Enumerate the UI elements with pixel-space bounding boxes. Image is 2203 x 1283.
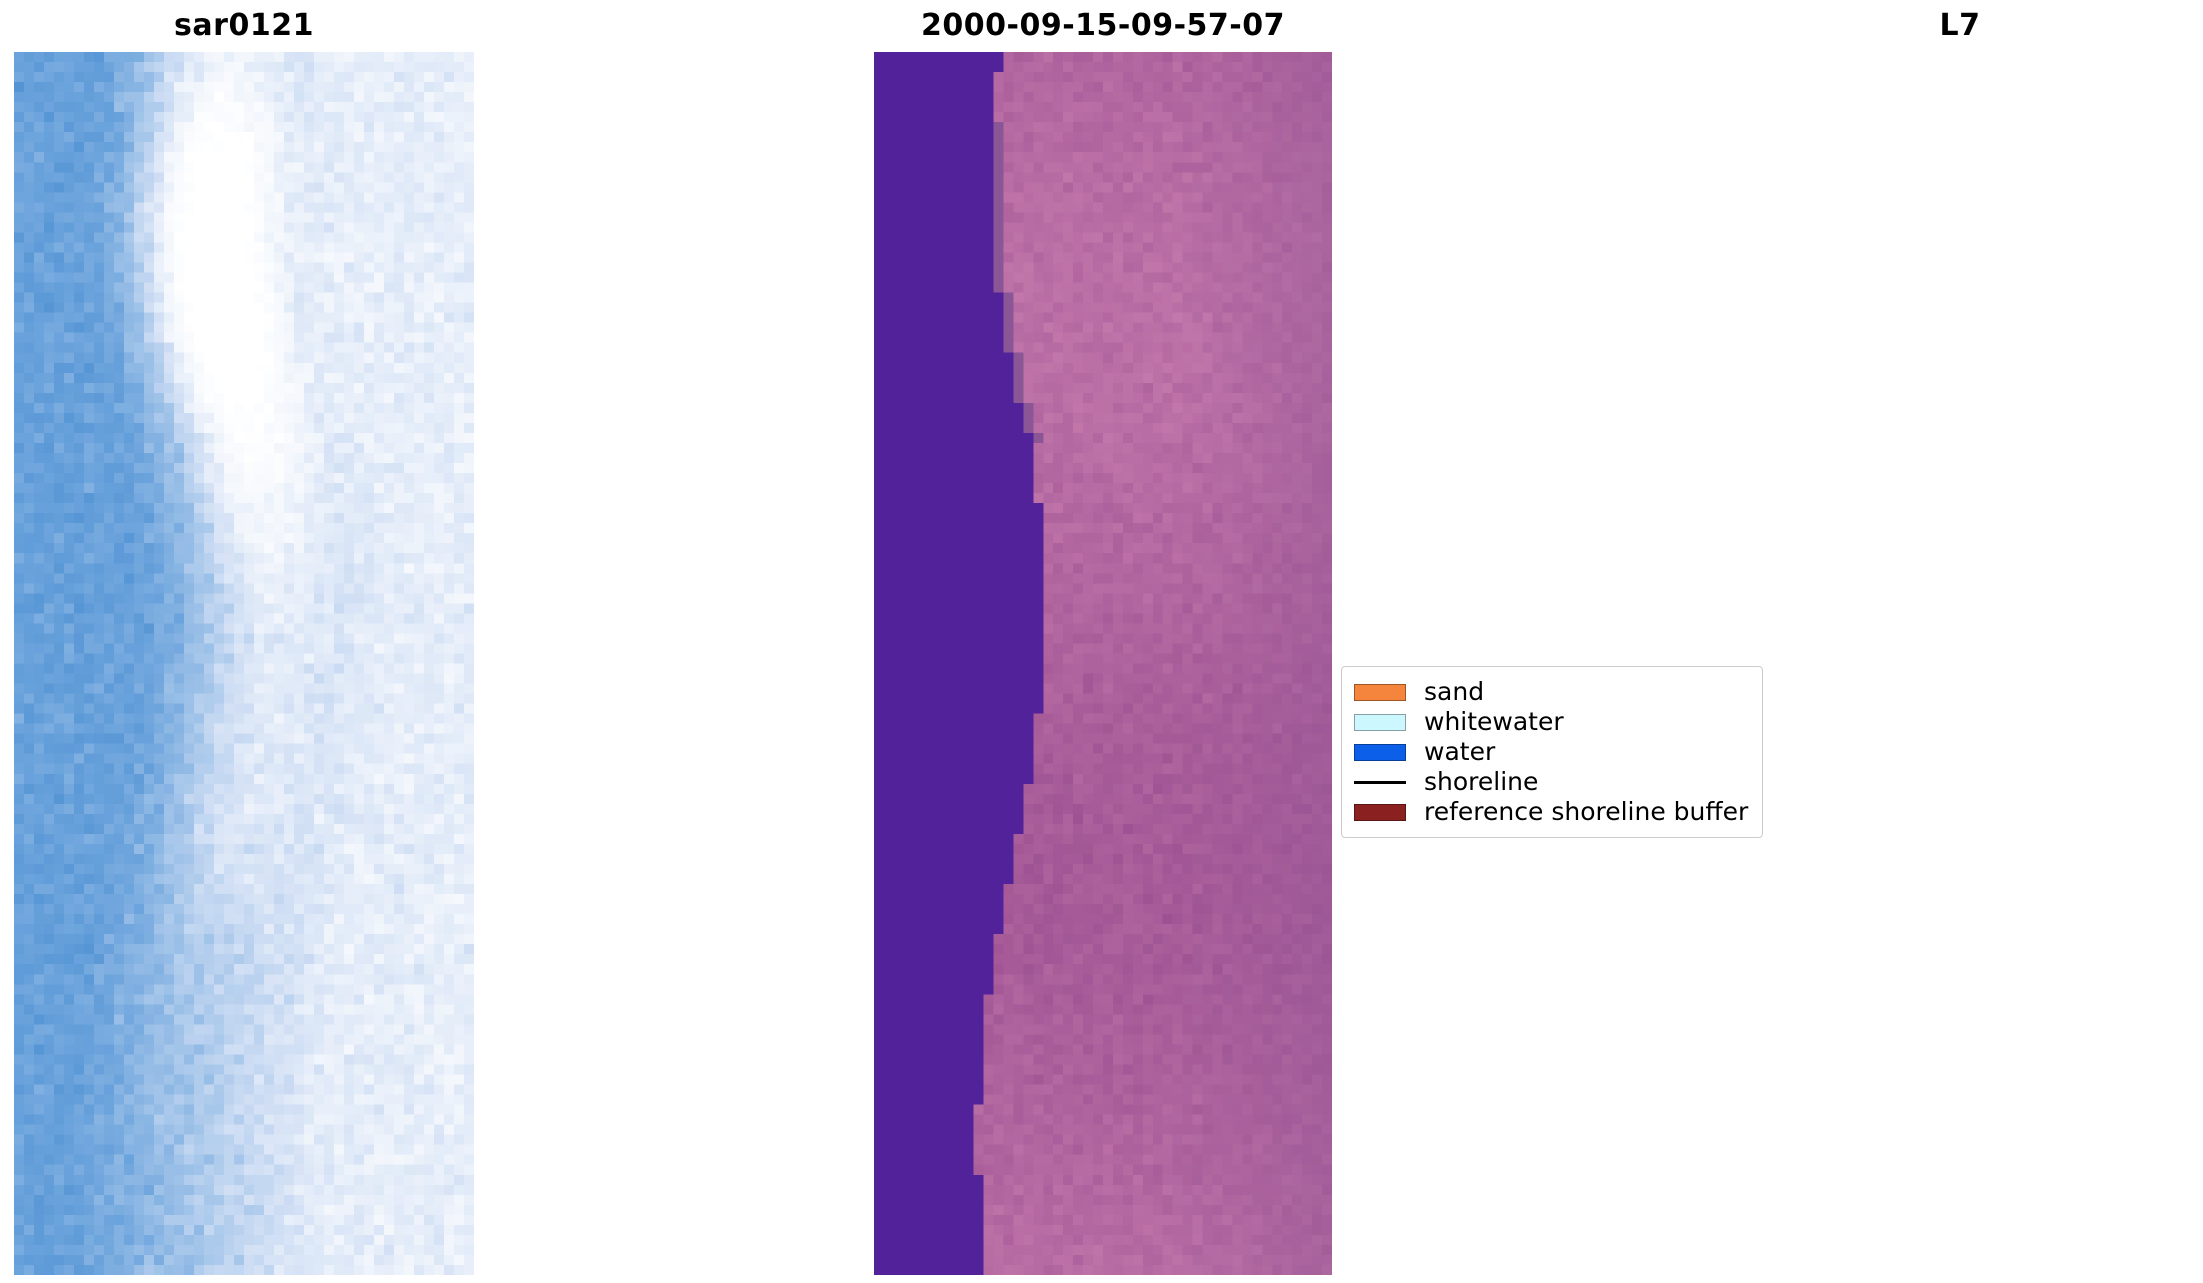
legend-swatch-reference-shoreline-buffer: [1354, 804, 1406, 821]
l7-image: [1730, 52, 2190, 1275]
sar-shoreline-overlay: [14, 52, 474, 1275]
legend-label-whitewater: whitewater: [1424, 708, 1564, 736]
l7-shoreline-overlay: [1730, 52, 2190, 1275]
panel-title-classification: 2000-09-15-09-57-07: [874, 4, 1332, 48]
legend-item-water[interactable]: water: [1354, 737, 1748, 767]
legend-item-sand[interactable]: sand: [1354, 677, 1748, 707]
legend-label-reference-shoreline-buffer: reference shoreline buffer: [1424, 798, 1748, 826]
legend-item-whitewater[interactable]: whitewater: [1354, 707, 1748, 737]
legend-swatch-whitewater: [1354, 714, 1406, 731]
legend-swatch-sand: [1354, 684, 1406, 701]
legend-label-sand: sand: [1424, 678, 1484, 706]
classification-image: [874, 52, 1332, 1275]
legend-label-water: water: [1424, 738, 1495, 766]
panel-l7[interactable]: [1730, 52, 2190, 1275]
legend[interactable]: sand whitewater water shoreline referenc…: [1341, 666, 1763, 838]
legend-item-reference-shoreline-buffer[interactable]: reference shoreline buffer: [1354, 797, 1748, 827]
panel-title-l7: L7: [1730, 4, 2190, 48]
panel-classification[interactable]: [874, 52, 1332, 1275]
legend-item-shoreline[interactable]: shoreline: [1354, 767, 1748, 797]
legend-swatch-water: [1354, 744, 1406, 761]
panel-sar[interactable]: [14, 52, 474, 1275]
figure-canvas: sar0121 2000-09-15-09-57-07 L7 sand whit…: [0, 0, 2203, 1283]
sar-image: [14, 52, 474, 1275]
panel-title-sar: sar0121: [14, 4, 474, 48]
legend-swatch-shoreline: [1354, 774, 1406, 791]
legend-label-shoreline: shoreline: [1424, 768, 1538, 796]
classification-shoreline-overlay: [874, 52, 1332, 1275]
